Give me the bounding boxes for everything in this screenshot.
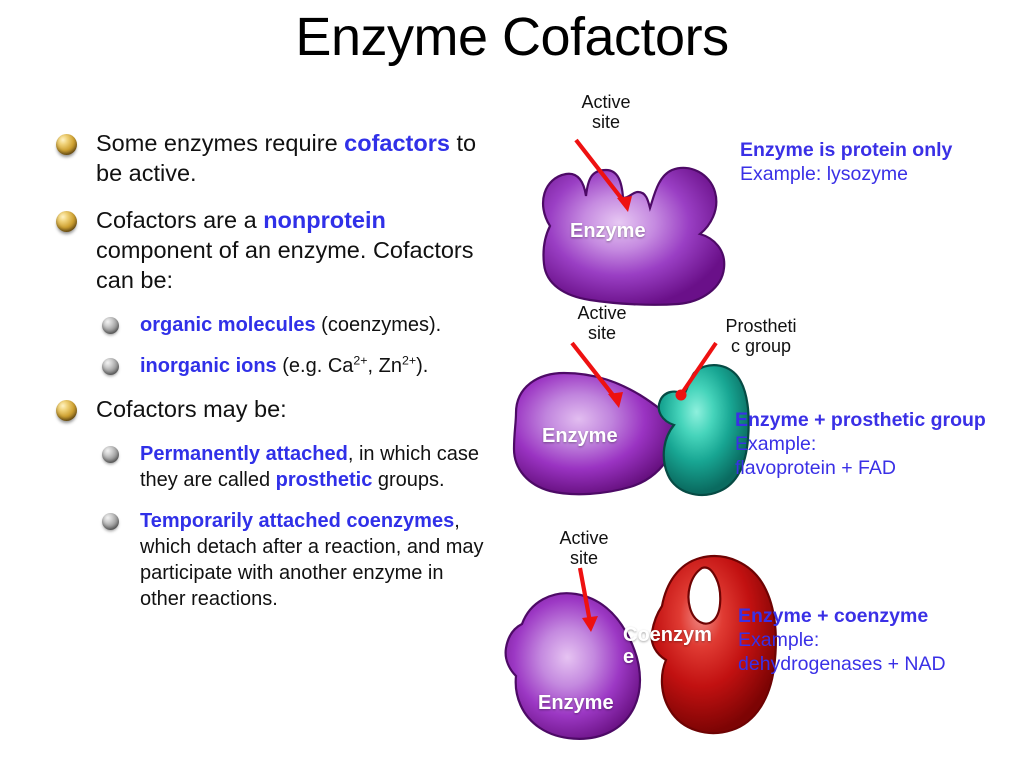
- bullet-list: Some enzymes require cofactors to be act…: [52, 128, 484, 627]
- caption-example: Example:: [735, 432, 1015, 456]
- text-run: , Zn: [368, 355, 402, 377]
- active-site-arrow-3: [560, 560, 650, 670]
- active-site-arrow-1: [562, 128, 682, 248]
- highlight-term: Permanently attached: [140, 443, 348, 465]
- highlight-term: nonprotein: [263, 207, 386, 233]
- text-run: (coenzymes).: [316, 314, 442, 336]
- caption-prosthetic-group: Enzyme + prosthetic group Example: flavo…: [735, 408, 1015, 480]
- bullet-item: Some enzymes require cofactors to be act…: [52, 128, 484, 188]
- bullet-text: Some enzymes require cofactors to be act…: [96, 128, 484, 188]
- highlight-term: Temporarily attached coenzymes: [140, 510, 454, 532]
- caption-head: Enzyme is protein only: [740, 138, 1010, 162]
- gray-sphere-bullet: [102, 358, 119, 375]
- caption-head: Enzyme + coenzyme: [738, 604, 1018, 628]
- highlight-term: prosthetic: [276, 469, 373, 491]
- bullet-text: inorganic ions (e.g. Ca2+, Zn2+).: [140, 353, 484, 379]
- sub-bullet-item: organic molecules (coenzymes).: [98, 312, 484, 338]
- text-run: component of an enzyme. Cofactors can be…: [96, 237, 474, 293]
- bullet-text: organic molecules (coenzymes).: [140, 312, 484, 338]
- bullet-text: Cofactors are a nonprotein component of …: [96, 205, 484, 295]
- figure-coenzyme: Active site: [500, 528, 1020, 758]
- text-run: Cofactors may be:: [96, 396, 287, 422]
- bullet-item: Cofactors may be:: [52, 394, 484, 424]
- text-run: groups.: [372, 469, 444, 491]
- highlight-term: organic molecules: [140, 314, 316, 336]
- caption-coenzyme: Enzyme + coenzyme Example: dehydrogenase…: [738, 604, 1018, 676]
- figure-protein-only: Active site Enzyme Enzyme is protein onl…: [510, 92, 1010, 292]
- superscript-charge: 2+: [402, 353, 416, 367]
- gray-sphere-bullet: [102, 513, 119, 530]
- bullet-item: Cofactors are a nonprotein component of …: [52, 205, 484, 295]
- gold-sphere-bullet: [56, 211, 77, 232]
- superscript-charge: 2+: [353, 353, 367, 367]
- gold-sphere-bullet: [56, 400, 77, 421]
- gray-sphere-bullet: [102, 446, 119, 463]
- sub-bullet-item: Permanently attached, in which case they…: [98, 441, 484, 493]
- highlight-term: inorganic ions: [140, 355, 277, 377]
- text-run: Some enzymes require: [96, 130, 344, 156]
- active-site-label: Active site: [558, 92, 654, 132]
- page-title: Enzyme Cofactors: [0, 6, 1024, 68]
- text-run: Cofactors are a: [96, 207, 263, 233]
- sub-bullet-item: Temporarily attached coenzymes, which de…: [98, 508, 484, 612]
- bullet-text: Cofactors may be:: [96, 394, 484, 424]
- sub-bullet-item: inorganic ions (e.g. Ca2+, Zn2+).: [98, 353, 484, 379]
- gold-sphere-bullet: [56, 134, 77, 155]
- caption-example-detail: flavoprotein + FAD: [735, 456, 1015, 480]
- caption-head: Enzyme + prosthetic group: [735, 408, 1015, 432]
- gray-sphere-bullet: [102, 317, 119, 334]
- caption-example: Example:: [738, 628, 1018, 652]
- highlight-term: cofactors: [344, 130, 450, 156]
- figure-prosthetic-group: Active site Prostheti c group: [510, 303, 1010, 518]
- bullet-text: Temporarily attached coenzymes, which de…: [140, 508, 484, 612]
- caption-protein-only: Enzyme is protein only Example: lysozyme: [740, 138, 1010, 186]
- text-run: (e.g. Ca: [277, 355, 354, 377]
- slide-canvas: Enzyme Cofactors Some enzymes require co…: [0, 0, 1024, 768]
- text-run: ).: [416, 355, 428, 377]
- caption-example: Example: lysozyme: [740, 162, 1010, 186]
- bullet-text: Permanently attached, in which case they…: [140, 441, 484, 493]
- caption-example-detail: dehydrogenases + NAD: [738, 652, 1018, 676]
